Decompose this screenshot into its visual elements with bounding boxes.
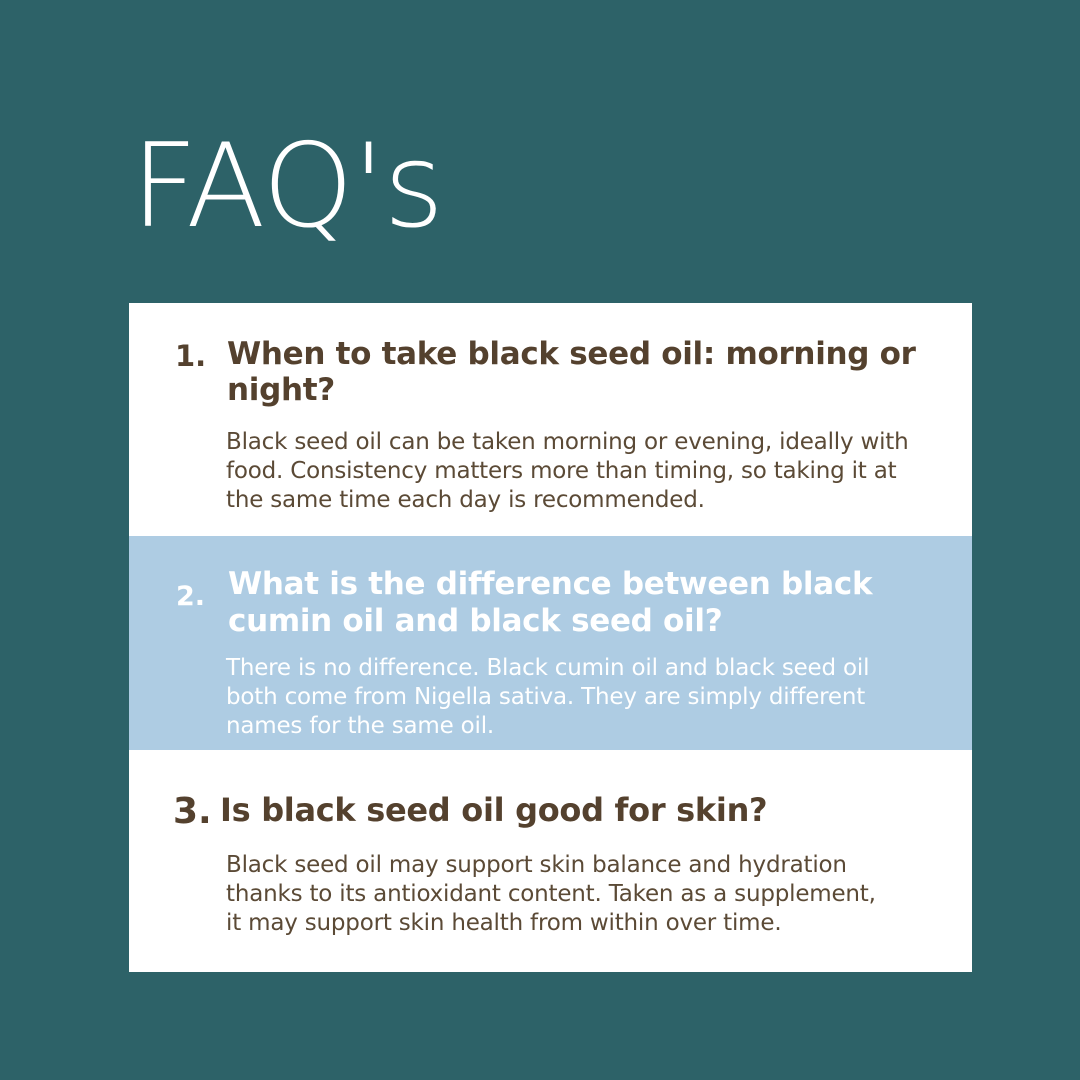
faq-answer-1: Black seed oil can be taken morning or e… [226,428,916,515]
faq-number-3: 3. [173,790,220,834]
faq-item-1[interactable]: 1. When to take black seed oil: morning … [129,303,972,536]
faq-answer-2: There is no difference. Black cumin oil … [226,654,926,741]
faq-question-2: What is the difference between black cum… [228,566,928,640]
faq-number-2: 2. [173,566,228,628]
page-title: FAQ's [131,126,443,248]
faq-card: 1. When to take black seed oil: morning … [129,303,972,972]
faq-poster: FAQ's 1. When to take black seed oil: mo… [0,0,1080,1080]
faq-question-row: 2. What is the difference between black … [173,566,928,640]
faq-item-3[interactable]: 3. Is black seed oil good for skin? Blac… [129,750,972,972]
faq-number-1: 1. [173,336,227,376]
faq-answer-3: Black seed oil may support skin balance … [226,851,886,938]
faq-item-2[interactable]: 2. What is the difference between black … [129,536,972,750]
faq-question-3: Is black seed oil good for skin? [220,790,928,830]
faq-question-1: When to take black seed oil: morning or … [227,336,928,408]
faq-question-row: 1. When to take black seed oil: morning … [173,336,928,408]
faq-question-row: 3. Is black seed oil good for skin? [173,790,928,834]
